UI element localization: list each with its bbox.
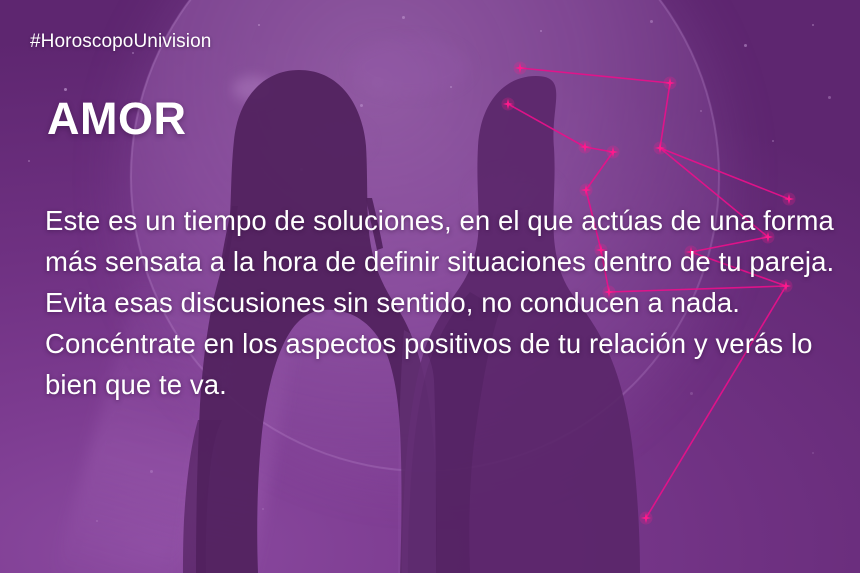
horoscope-body-text: Este es un tiempo de soluciones, en el q… [45, 200, 845, 405]
horoscope-card: #HoroscopoUnivision AMOR Este es un tiem… [0, 0, 860, 573]
hashtag-label: #HoroscopoUnivision [30, 31, 211, 53]
content-layer: #HoroscopoUnivision AMOR Este es un tiem… [0, 0, 860, 573]
page-title: AMOR [47, 96, 186, 141]
